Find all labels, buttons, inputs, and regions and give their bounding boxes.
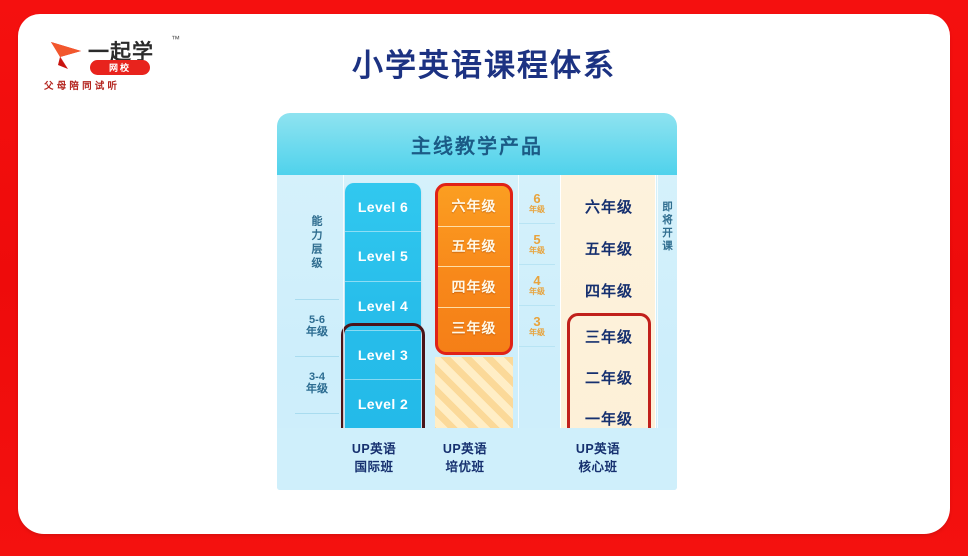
- orange-grade-item-6[interactable]: 六年级: [438, 186, 510, 227]
- product-1-line1: UP英语: [352, 442, 396, 456]
- band-grade-5-6: 5-6年级: [295, 299, 339, 353]
- product-3-line1: UP英语: [576, 442, 620, 456]
- product-label-core[interactable]: UP英语 核心班: [550, 440, 646, 476]
- cream-grade-item-2[interactable]: 二年级: [570, 357, 648, 398]
- curriculum-card: 主线教学产品 能力层级 5-6年级 3-4年级 1-2年级: [277, 113, 677, 490]
- grade-tick-5-number: 5: [533, 233, 540, 246]
- level-item-6[interactable]: Level 6: [345, 183, 421, 232]
- ability-band-heading: 能力层级: [291, 201, 341, 285]
- band-grade-5-6-label: 5-6年级: [306, 315, 328, 338]
- grade-tick-3-unit: 年级: [529, 328, 545, 338]
- orange-grade-item-5[interactable]: 五年级: [438, 227, 510, 268]
- grade-tick-3-number: 3: [533, 315, 540, 328]
- level-item-2[interactable]: Level 2: [345, 380, 421, 429]
- band-grade-3-4: 3-4年级: [295, 356, 339, 410]
- grade-tick-3: 3 年级: [519, 306, 555, 347]
- grade-tick-6-unit: 年级: [529, 205, 545, 215]
- cream-grade-item-4[interactable]: 四年级: [561, 269, 657, 311]
- product-1-line2: 国际班: [354, 460, 393, 474]
- orange-grade-stack: 六年级 五年级 四年级 三年级: [435, 183, 513, 355]
- orange-grade-item-4[interactable]: 四年级: [438, 267, 510, 308]
- level-item-5[interactable]: Level 5: [345, 232, 421, 281]
- page-title: 小学英语课程体系: [18, 40, 950, 85]
- cream-grade-item-6[interactable]: 六年级: [561, 185, 657, 227]
- grade-tick-4-unit: 年级: [529, 287, 545, 297]
- product-2-line1: UP英语: [443, 442, 487, 456]
- card-body: 能力层级 5-6年级 3-4年级 1-2年级 Level 6: [277, 175, 677, 490]
- level-item-4[interactable]: Level 4: [345, 282, 421, 331]
- cream-grade-top-group: 六年级 五年级 四年级: [561, 185, 657, 311]
- card-header-title: 主线教学产品: [411, 130, 543, 159]
- grade-tick-5-unit: 年级: [529, 246, 545, 256]
- grade-tick-6-number: 6: [533, 192, 540, 205]
- product-label-international[interactable]: UP英语 国际班: [334, 440, 414, 476]
- card-header: 主线教学产品: [277, 113, 677, 175]
- product-3-line2: 核心班: [578, 460, 617, 474]
- slide-frame: 一起学 ™ 网校 父母陪同试听 小学英语课程体系 主线教学产品 能力层级 5-6…: [0, 0, 968, 556]
- coming-soon-label: 即将开课: [660, 201, 675, 253]
- grade-tick-6: 6 年级: [519, 183, 555, 224]
- product-label-advanced[interactable]: UP英语 培优班: [425, 440, 505, 476]
- product-2-line2: 培优班: [445, 460, 484, 474]
- orange-grade-item-3[interactable]: 三年级: [438, 308, 510, 349]
- cream-grade-item-3[interactable]: 三年级: [570, 316, 648, 357]
- cream-grade-highlight-box: 三年级 二年级 一年级: [567, 313, 651, 443]
- band-grade-3-4-label: 3-4年级: [306, 372, 328, 395]
- level-item-3[interactable]: Level 3: [345, 331, 421, 380]
- ability-band-heading-label: 能力层级: [308, 215, 324, 271]
- cream-grade-item-5[interactable]: 五年级: [561, 227, 657, 269]
- grade-tick-4-number: 4: [533, 274, 540, 287]
- slide-content-surface: 一起学 ™ 网校 父母陪同试听 小学英语课程体系 主线教学产品 能力层级 5-6…: [18, 14, 950, 534]
- grade-tick-5: 5 年级: [519, 224, 555, 265]
- grade-tick-4: 4 年级: [519, 265, 555, 306]
- product-label-row: UP英语 国际班 UP英语 培优班 UP英语 核心班: [277, 428, 677, 490]
